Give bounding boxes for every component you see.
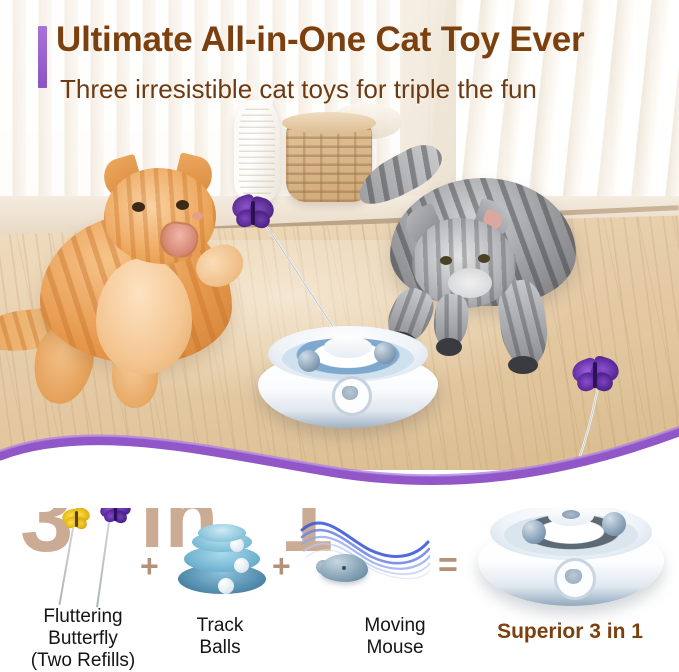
track-ball-middle: [234, 558, 249, 573]
label-fluttering-butterfly: Fluttering Butterfly (Two Refills): [8, 606, 158, 672]
gray-cat-eye-left: [440, 256, 452, 265]
product-center-hub: [324, 336, 372, 358]
page-subtitle: Three irresistible cat toys for triple t…: [60, 74, 670, 105]
plus-operator-1: +: [140, 548, 159, 585]
accent-bar: [38, 26, 47, 88]
final-product-wand-socket: [562, 510, 580, 519]
gray-cat-paw-right: [436, 338, 462, 356]
orange-cat-nose: [192, 212, 203, 220]
mouse-eye: [342, 566, 346, 570]
label-line-2: Mouse: [330, 637, 460, 659]
label-line-1: Track: [160, 615, 280, 637]
final-product-track-ball-1: [522, 520, 546, 544]
product-track-ball-2: [374, 342, 396, 364]
orange-cat-chest: [96, 258, 192, 374]
label-superior-3-in-1: Superior 3 in 1: [470, 620, 670, 644]
headline-block: Ultimate All-in-One Cat Toy Ever Three i…: [0, 22, 679, 118]
label-line-2: Balls: [160, 637, 280, 659]
gray-cat-paw-hind: [508, 356, 538, 374]
product-track-ball-1: [298, 350, 320, 372]
butterfly-toy-right: [572, 358, 620, 392]
product-infographic: Ultimate All-in-One Cat Toy Ever Three i…: [0, 0, 679, 672]
label-line-1: Moving: [330, 615, 460, 637]
track-ball-bottom: [218, 578, 234, 594]
orange-tabby-cat: [0, 150, 300, 420]
track-tier-top: [198, 524, 246, 542]
moving-mouse-toy: [316, 548, 370, 582]
orange-cat-eye-left: [132, 202, 145, 212]
equals-operator: =: [438, 546, 458, 585]
label-track-balls: Track Balls: [160, 615, 280, 659]
gray-cat-eye-right: [478, 254, 490, 263]
label-line-3: (Two Refills): [8, 650, 158, 672]
label-line-2: Butterfly: [8, 628, 158, 650]
page-title: Ultimate All-in-One Cat Toy Ever: [56, 20, 666, 60]
label-moving-mouse: Moving Mouse: [330, 615, 460, 659]
track-balls-toy: [176, 524, 268, 604]
plus-operator-2: +: [272, 548, 291, 585]
final-product-track-ball-2: [602, 512, 626, 536]
purple-wave-divider: [0, 398, 679, 508]
final-product-brand-logo: [554, 558, 596, 600]
orange-cat-eye-right: [176, 200, 189, 210]
butterfly-toy-left: [232, 196, 276, 230]
label-line-1: Fluttering: [8, 606, 158, 628]
superior-3-in-1-product: [478, 500, 664, 610]
